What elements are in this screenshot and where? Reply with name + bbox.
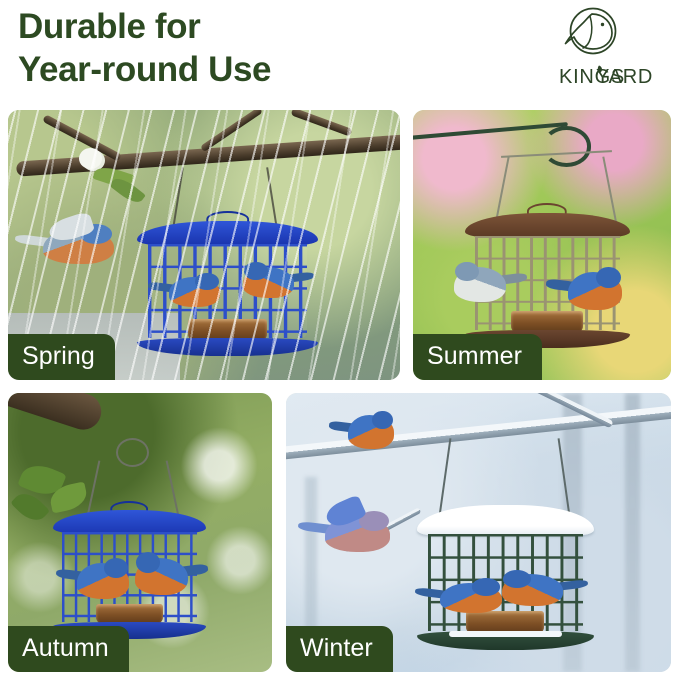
header: Durable for Year-round Use KINGS KINGS Y…	[0, 0, 679, 108]
season-label-spring: Spring	[8, 334, 115, 380]
brand-wordmark: KINGS KINGS YARD	[519, 61, 665, 91]
season-label-summer: Summer	[413, 334, 542, 380]
season-label-autumn: Autumn	[8, 626, 129, 672]
panel-winter: Winter	[286, 393, 671, 672]
panel-spring: Spring	[8, 110, 400, 380]
bird-in-flight	[325, 516, 390, 552]
bird	[348, 415, 394, 448]
panel-autumn: Autumn	[8, 393, 272, 672]
bird	[135, 558, 188, 596]
svg-text:YARD: YARD	[596, 66, 653, 88]
bird-in-circle-icon	[562, 4, 622, 62]
product-infographic: Durable for Year-round Use KINGS KINGS Y…	[0, 0, 679, 680]
bird	[454, 267, 506, 302]
bird	[568, 272, 622, 310]
panel-summer: Summer	[413, 110, 671, 380]
season-label-winter: Winter	[286, 626, 393, 672]
page-title: Durable for Year-round Use	[18, 6, 271, 91]
bird	[440, 583, 502, 614]
bird	[77, 563, 130, 599]
season-panel-grid: Spring	[8, 110, 671, 672]
brand-logo: KINGS KINGS YARD	[519, 4, 665, 96]
bird	[502, 574, 564, 606]
